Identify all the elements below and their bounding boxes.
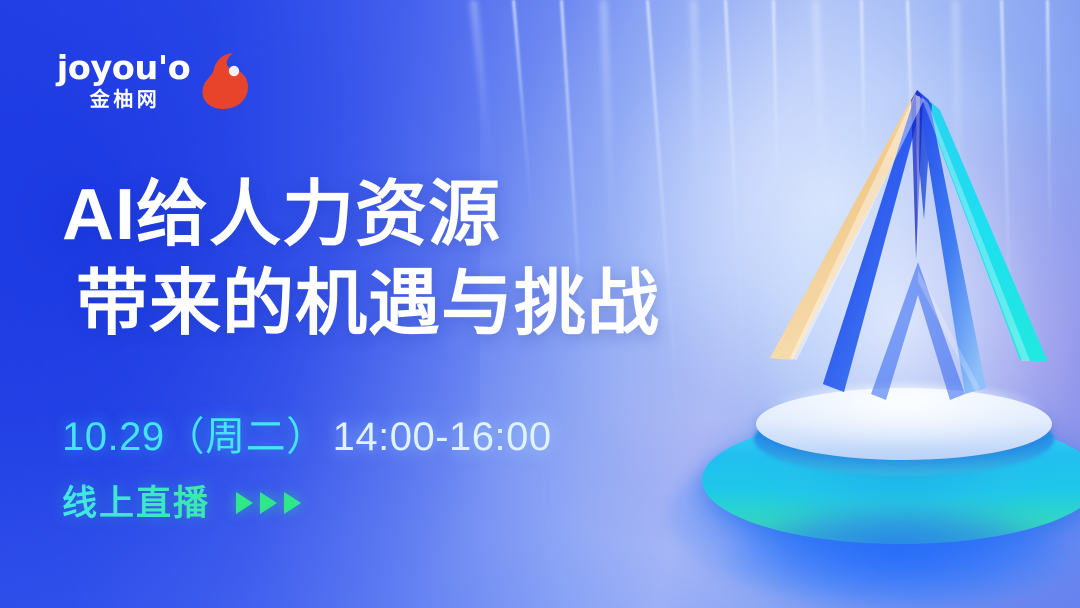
arrow-chevron-shape bbox=[718, 70, 1080, 490]
play-triangle-icon bbox=[284, 492, 301, 514]
webinar-promo-banner: joyou'o 金柚网 AI给人力资源 带来的机遇与挑战 10.29（周二）14… bbox=[0, 0, 1080, 608]
logo-chinese-name: 金柚网 bbox=[87, 90, 161, 110]
live-stream-label: 线上直播 bbox=[62, 475, 210, 526]
play-triangle-icon-group bbox=[236, 492, 301, 514]
podium-floor-contact-glow bbox=[724, 510, 1074, 608]
play-triangle-icon bbox=[260, 492, 277, 514]
headline: AI给人力资源 带来的机遇与挑战 bbox=[62, 176, 660, 344]
play-triangle-icon bbox=[236, 492, 253, 514]
headline-line-1: AI给人力资源 bbox=[62, 176, 660, 255]
headline-line-2: 带来的机遇与挑战 bbox=[76, 265, 660, 344]
event-time: 14:00-16:00 bbox=[333, 415, 552, 459]
logo-text-group: joyou'o 金柚网 bbox=[58, 51, 189, 110]
schedule-line: 10.29（周二）14:00-16:00 bbox=[62, 404, 552, 462]
hero-3d-graphic bbox=[718, 70, 1080, 608]
event-date: 10.29（周二） bbox=[62, 415, 327, 459]
live-stream-row: 线上直播 bbox=[62, 475, 301, 526]
logo-wordmark: joyou'o bbox=[57, 51, 191, 84]
pomelo-fruit-icon bbox=[199, 50, 253, 110]
brand-logo: joyou'o 金柚网 bbox=[58, 50, 253, 110]
